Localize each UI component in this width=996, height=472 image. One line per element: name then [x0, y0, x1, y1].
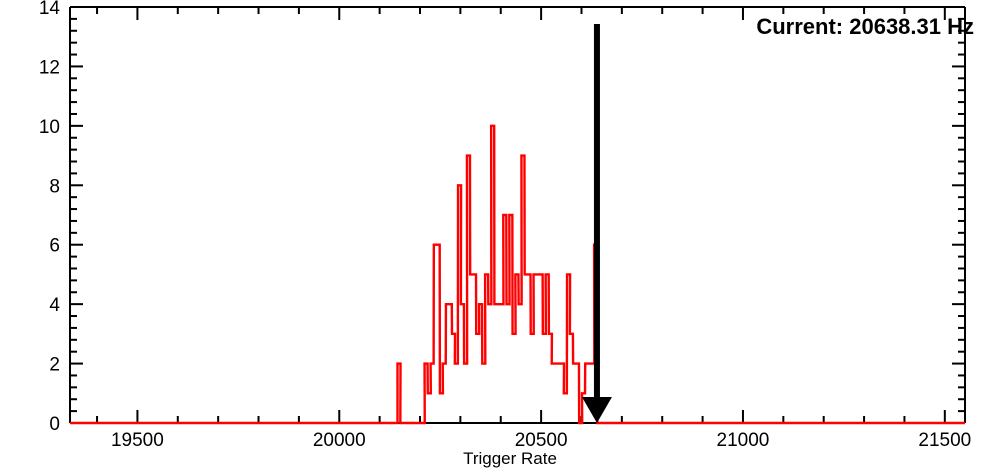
chart-canvas: 02468101214 1950020000205002100021500 Tr… — [0, 0, 996, 472]
axis-frame — [70, 7, 965, 423]
trigger-rate-histogram: 02468101214 1950020000205002100021500 Tr… — [0, 0, 996, 472]
y-tick-label: 4 — [49, 295, 60, 316]
y-axis-ticks — [70, 19, 965, 423]
x-axis-tick-labels: 1950020000205002100021500 — [111, 430, 971, 451]
y-tick-label: 6 — [49, 236, 60, 257]
histogram-series — [70, 126, 965, 423]
x-tick-label: 20000 — [313, 430, 366, 451]
y-tick-label: 2 — [49, 355, 60, 376]
x-axis-title: Trigger Rate — [463, 449, 557, 468]
y-tick-label: 14 — [39, 0, 61, 19]
marker-arrow-icon — [582, 397, 612, 423]
x-tick-label: 20500 — [515, 430, 568, 451]
y-axis-tick-labels: 02468101214 — [39, 0, 61, 435]
x-tick-label: 21500 — [918, 430, 971, 451]
y-tick-label: 12 — [39, 57, 60, 78]
x-tick-label: 21000 — [717, 430, 770, 451]
x-tick-label: 19500 — [111, 430, 164, 451]
y-tick-label: 0 — [49, 414, 60, 435]
y-tick-label: 8 — [49, 176, 60, 197]
current-rate-readout: Current: 20638.31 Hz — [756, 14, 974, 40]
y-tick-label: 10 — [39, 117, 60, 138]
